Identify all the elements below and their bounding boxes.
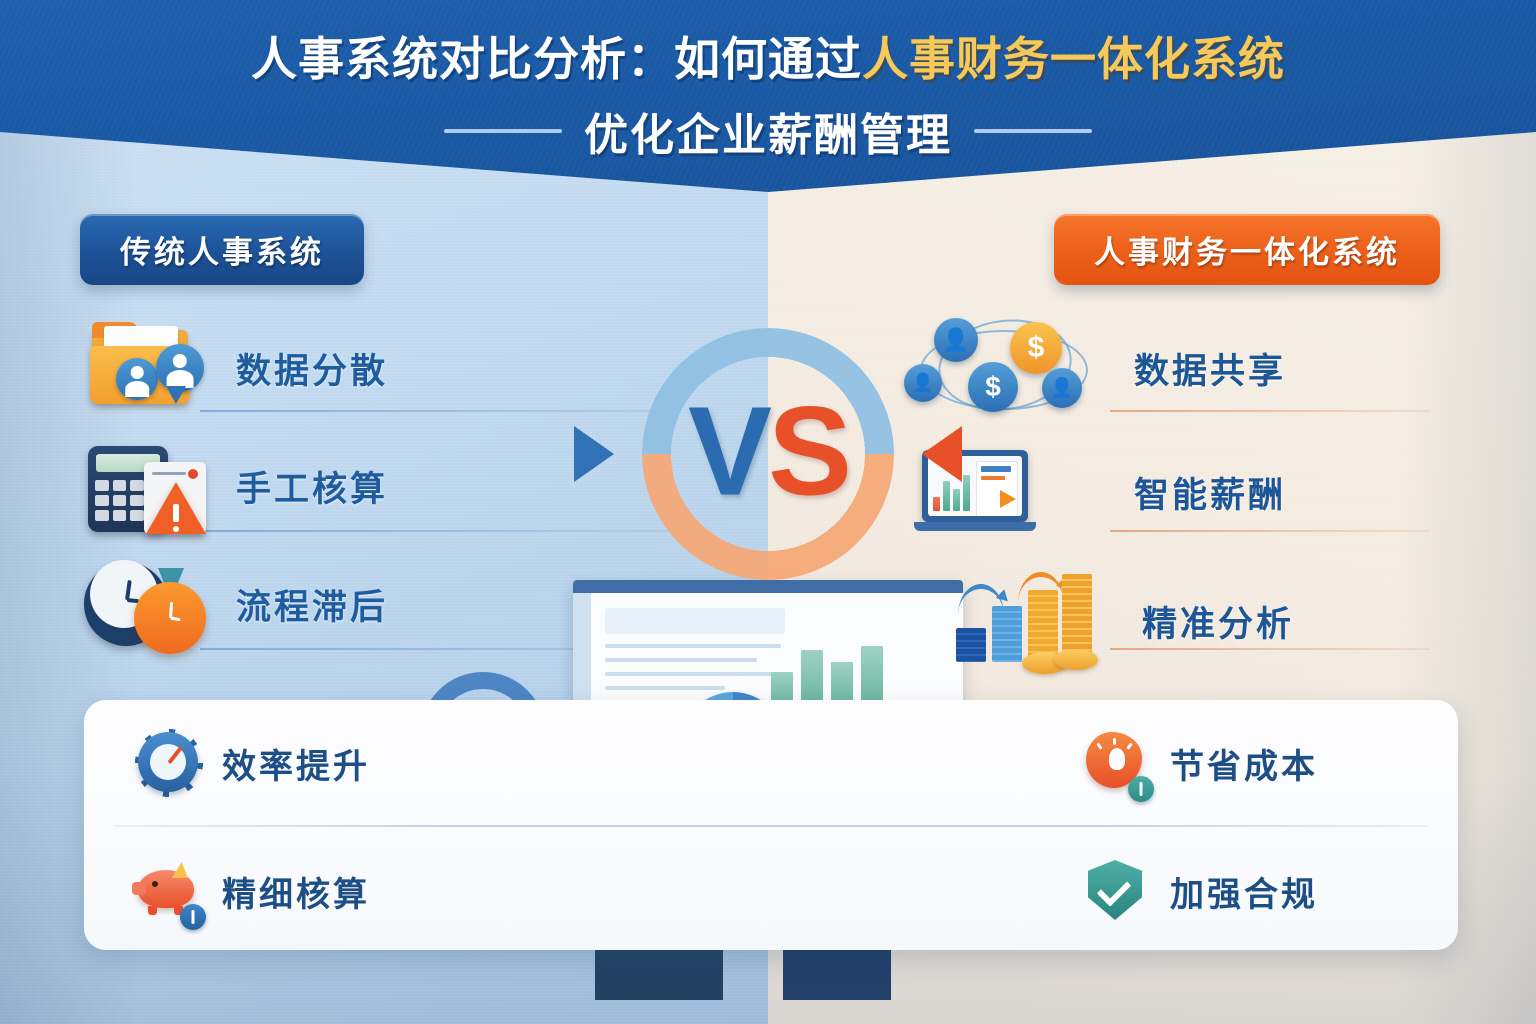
feature-right-3[interactable]: 精准分析 [950,566,1294,676]
coin-growth-icon [950,566,1120,676]
feature-right-2[interactable]: 智能薪酬 [912,440,1286,544]
piggy-bank-icon [136,858,202,924]
benefit-fine-accounting-label: 精细核算 [222,867,370,916]
gear-gauge-icon [136,730,202,796]
vs-letter-s: S [768,381,848,522]
benefit-fine-accounting[interactable]: 精细核算 [136,858,370,924]
folder-people-icon [82,316,214,420]
benefit-efficiency-label: 效率提升 [222,739,370,788]
calculator-warning-icon [82,434,214,538]
feature-right-3-label: 精准分析 [1142,596,1294,647]
clock-stopwatch-icon [82,552,214,656]
benefit-compliance-label: 加强合规 [1170,867,1318,916]
shield-check-icon [1084,858,1150,924]
feature-left-2[interactable]: 手工核算 [82,434,388,538]
feature-left-2-label: 手工核算 [236,461,388,512]
vs-text: VS [688,379,848,524]
benefit-efficiency[interactable]: 效率提升 [136,730,370,796]
benefit-compliance[interactable]: 加强合规 [1084,858,1318,924]
feature-left-1[interactable]: 数据分散 [82,316,388,420]
feature-right-2-label: 智能薪酬 [1134,467,1286,518]
benefits-divider [114,825,1428,827]
benefits-panel: 效率提升 精细核算 [84,700,1458,950]
vs-comparison-marker: VS [568,304,968,604]
infographic-poster: 人事系统对比分析：如何通过人事财务一体化系统 优化企业薪酬管理 传统人事系统 人… [0,0,1536,1024]
feature-right-1[interactable]: 👤 $ 👤 $ 👤 数据共享 [912,316,1286,420]
badge-integrated-system[interactable]: 人事财务一体化系统 [1054,214,1440,285]
feature-left-3-label: 流程滞后 [236,579,388,630]
feature-right-1-label: 数据共享 [1134,343,1286,394]
benefit-cost-saving-label: 节省成本 [1170,739,1318,788]
feature-left-1-label: 数据分散 [236,343,388,394]
badge-traditional-system[interactable]: 传统人事系统 [80,214,364,285]
vs-letter-v: V [688,381,768,522]
arrow-left-icon [574,426,614,482]
arrow-right-icon [922,426,962,482]
feature-left-3[interactable]: 流程滞后 [82,552,388,656]
lightbulb-icon [1084,730,1150,796]
benefit-cost-saving[interactable]: 节省成本 [1084,730,1318,796]
